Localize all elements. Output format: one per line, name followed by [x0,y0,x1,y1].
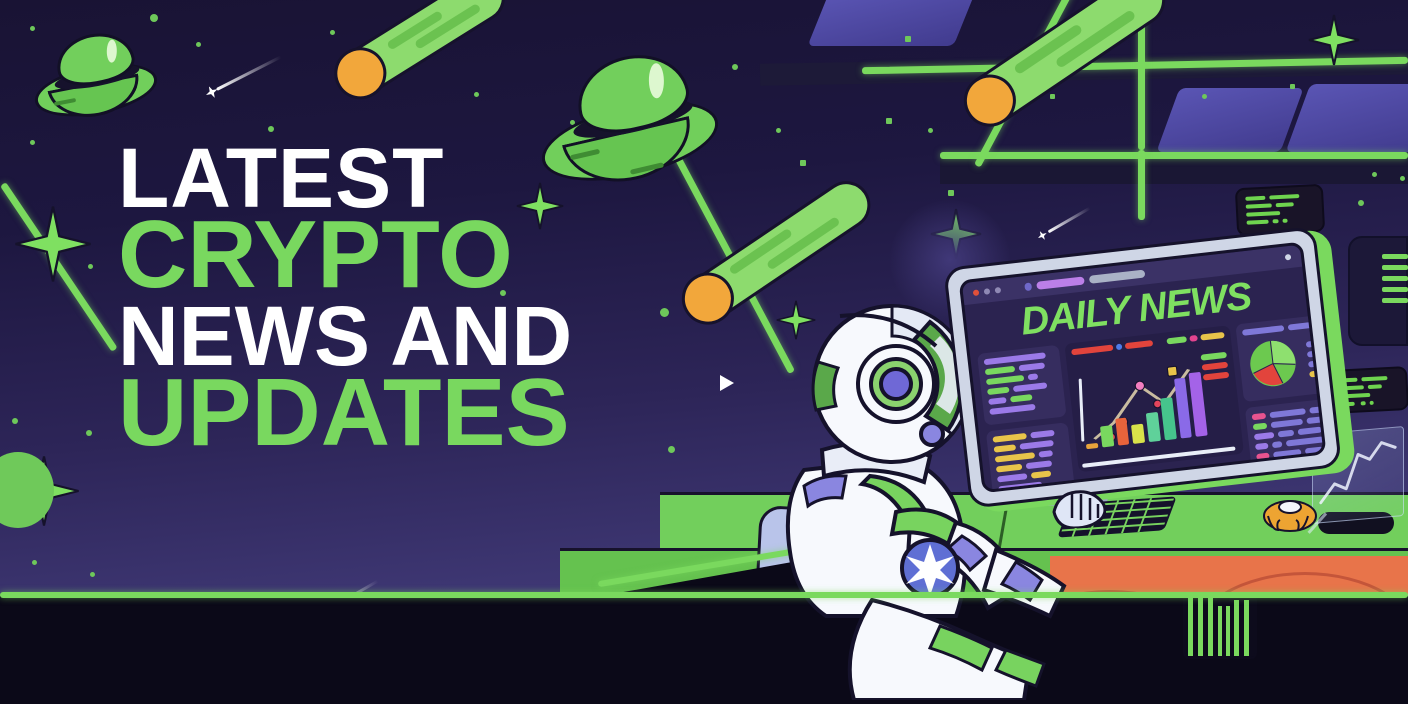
crypto-news-banner: LATEST CRYPTO NEWS AND UPDATES [0,0,1408,704]
pie-legend-bar [1308,357,1327,367]
star [800,160,806,166]
star [1290,84,1295,89]
pie-legend-bar [1306,337,1327,347]
bar [1160,397,1176,440]
legend-swatch [1125,340,1153,349]
toolbar-dot-right[interactable] [1285,254,1292,261]
star [928,128,933,133]
star [330,30,335,35]
star [474,92,479,97]
headline-line-2: CRYPTO [118,211,572,299]
sparkle-star-icon [14,205,92,288]
star [150,14,158,22]
monitor-screen[interactable]: DAILY NEWS [959,241,1327,493]
star [732,64,738,70]
legend-swatch [1116,344,1123,351]
dashboard-left-column [977,345,1073,482]
chart-card [1064,325,1244,472]
star [1202,94,1207,99]
battery-canisters [1180,588,1260,660]
star [90,572,95,577]
foreground-edge-glow [0,592,1408,598]
star [1358,200,1364,206]
bar [1174,378,1192,439]
text-card-top [977,345,1067,426]
bar [1100,425,1114,447]
toolbar-dot-gray[interactable] [984,288,991,295]
star [886,118,892,124]
ufo-top-left [32,30,160,122]
text-card-bottom [986,422,1076,493]
legend-swatch [1189,335,1198,342]
dashboard-right-column [1235,312,1326,453]
headline-line-4: UPDATES [118,369,572,457]
toolbar-pill-gray[interactable] [1089,270,1146,284]
toolbar-pill-purple[interactable] [1036,276,1085,289]
star [12,418,18,424]
side-console-bars [1382,254,1408,303]
star [905,36,911,42]
legend-swatch [1203,372,1230,381]
table-card [1245,395,1327,480]
monitor-bezel: DAILY NEWS [943,226,1342,509]
toolbar-dot-gray[interactable] [995,287,1002,294]
toolbar-pill-blue[interactable] [1024,282,1032,291]
pie-legend-bar [1307,347,1327,357]
bar [1146,412,1161,442]
legend-swatch [1071,345,1113,356]
gold-coin-stack [1262,492,1318,536]
astronaut-neck-connector [921,423,943,445]
headline-block: LATEST CRYPTO NEWS AND UPDATES [118,140,572,457]
star [1050,94,1055,99]
line-chart [1078,359,1208,449]
triangle-glint [720,375,734,391]
bar [1115,418,1130,446]
bar [1086,443,1098,449]
bar-chart [1079,372,1207,449]
pie-chart [1243,334,1303,394]
star [32,560,37,565]
legend-swatch [1202,362,1229,371]
text-row [1242,318,1327,336]
bar [1131,424,1145,444]
star [1372,172,1377,177]
legend-swatch [1200,332,1225,341]
star [776,128,781,133]
chart-legend-right [1201,352,1230,381]
sparkle-star-icon [1308,14,1360,71]
astronaut-dial-center [881,369,911,399]
astronaut-hand [1052,486,1106,528]
star [1400,176,1405,181]
legend-swatch [1166,336,1187,344]
pie-card [1235,312,1326,402]
star [30,140,35,145]
toolbar-dot-red[interactable] [973,289,980,296]
star [668,446,675,453]
star [948,190,954,196]
pie-legend-bar [1309,367,1326,377]
astronaut-helmet-patch [813,362,838,410]
star [660,308,669,317]
monitor[interactable]: DAILY NEWS [943,225,1349,516]
star [196,42,201,47]
legend-swatch [1201,352,1228,361]
bar [1189,372,1208,437]
star [86,430,92,436]
chart-x-axis [1082,446,1235,467]
